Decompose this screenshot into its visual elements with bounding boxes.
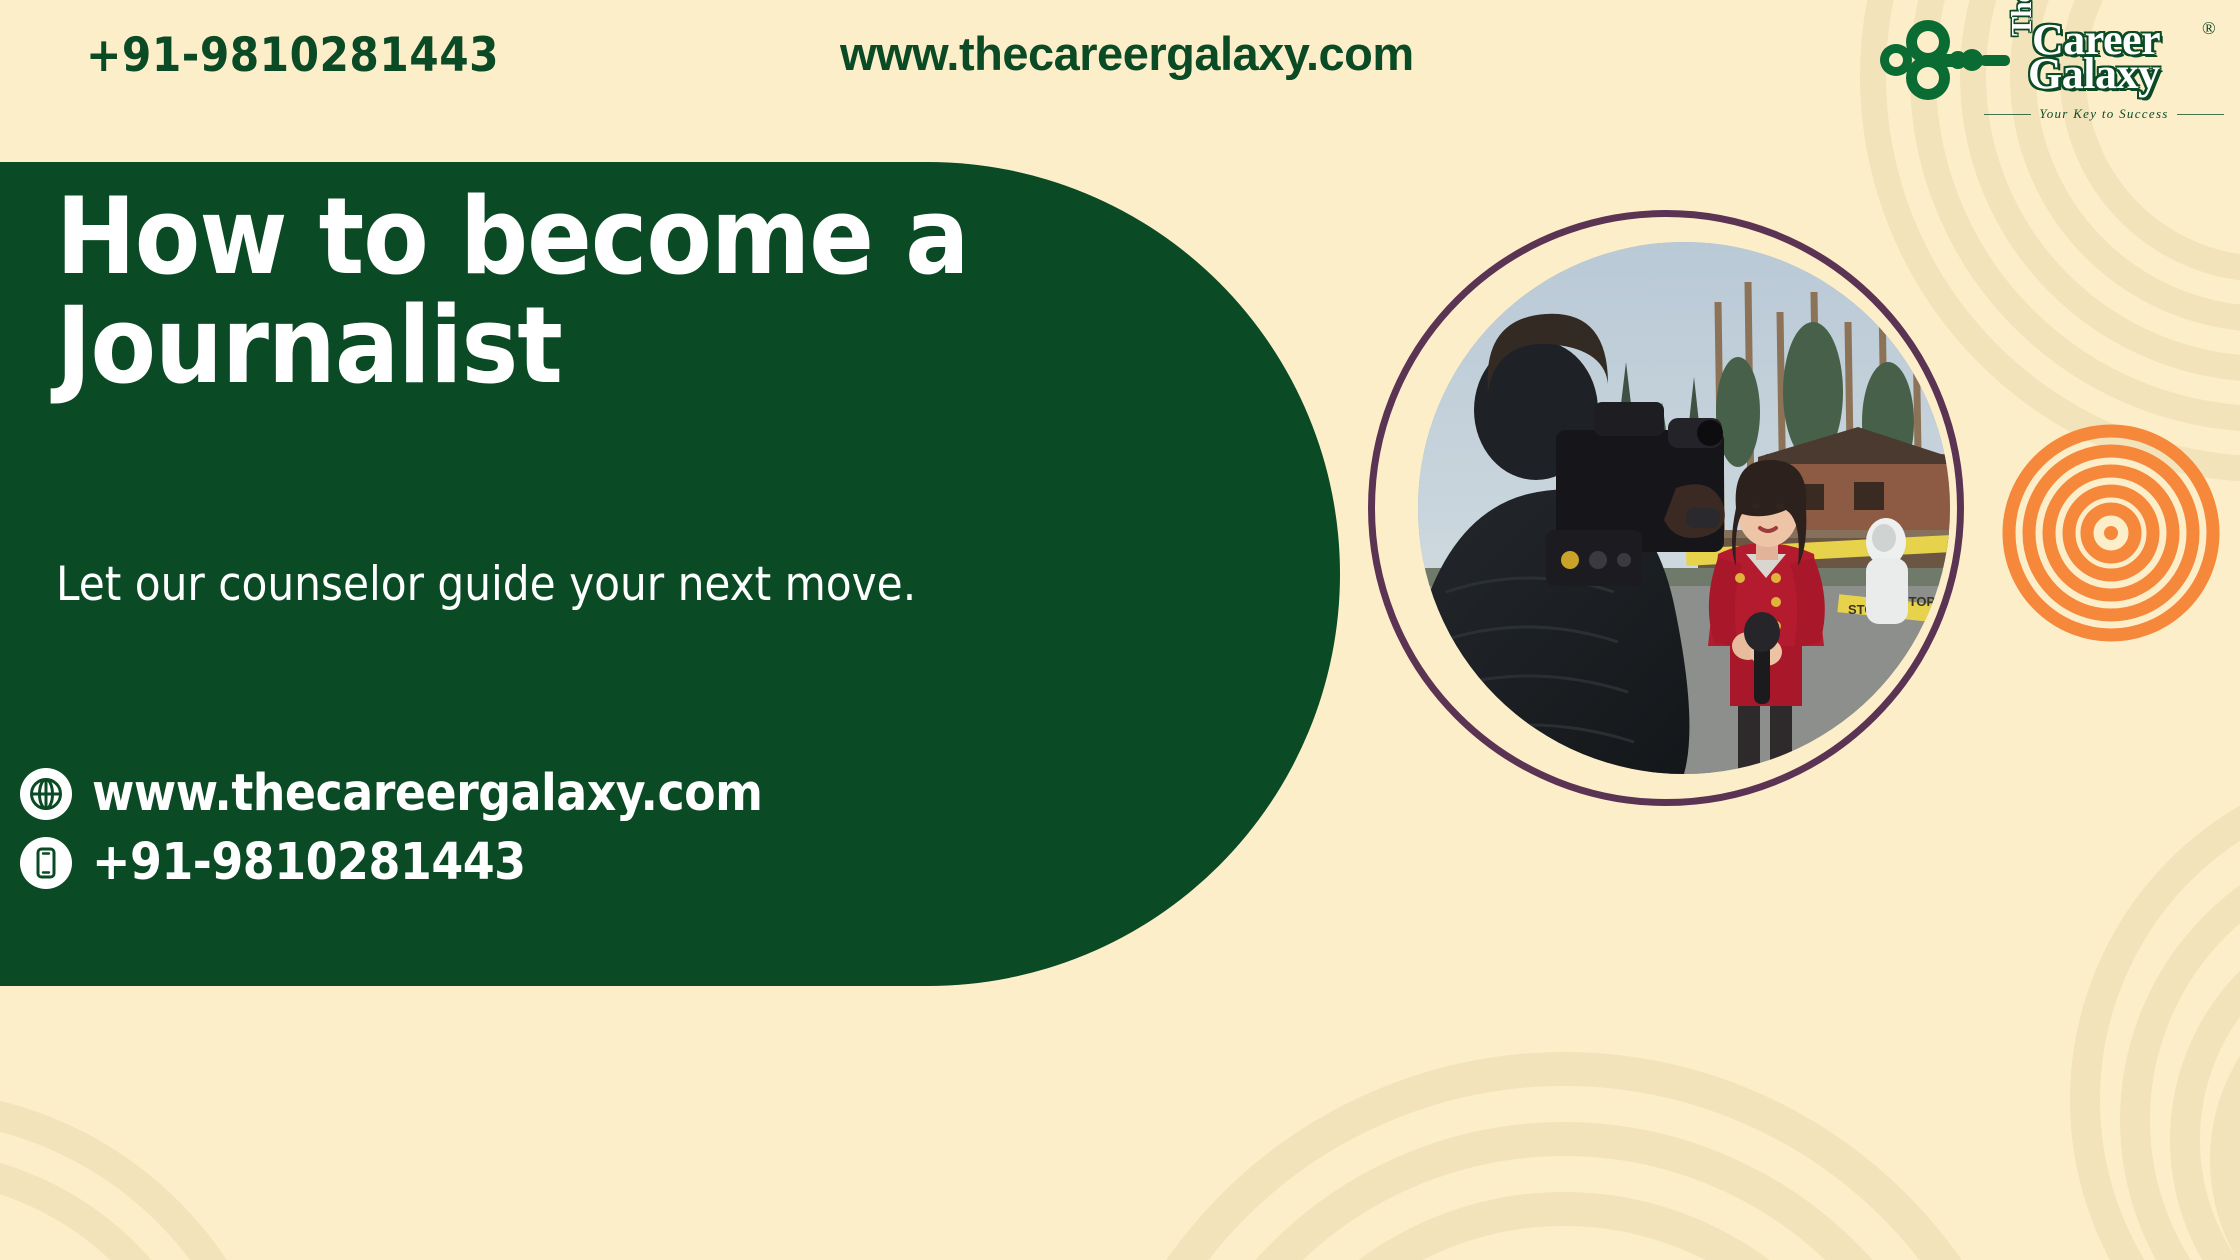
contact-website-label[interactable]: www.thecareergalaxy.com [92,764,762,823]
logo-wordmark: The Career Galaxy ® [2006,16,2226,100]
brand-logo[interactable]: The Career Galaxy ® Your Key to Success [1880,14,2220,134]
globe-icon [20,768,72,820]
tagline-rule-left [1984,114,2031,115]
registered-mark-icon: ® [2202,18,2216,39]
photo-decorative-ring [1368,210,1964,806]
logo-tagline: Your Key to Success [1984,106,2224,122]
contact-row-website[interactable]: www.thecareergalaxy.com [20,764,1020,823]
concentric-target-icon [2002,424,2220,642]
top-phone-number[interactable]: +91-9810281443 [86,28,499,83]
contact-row-phone[interactable]: +91-9810281443 [20,833,1020,892]
headline-line-1: How to become a [56,182,1116,291]
headline-line-2: Journalist [56,291,1116,400]
top-website-url[interactable]: www.thecareergalaxy.com [840,26,1414,81]
mobile-phone-icon [20,837,72,889]
logo-galaxy-text: Galaxy [2028,48,2159,99]
hero-content: How to become a Journalist Let our couns… [0,162,1100,986]
hero-subheadline: Let our counselor guide your next move. [56,554,956,617]
promo-banner: +91-9810281443 www.thecareergalaxy.com [0,0,2240,1260]
page-title: How to become a Journalist [56,182,1116,400]
hero-contact-list: www.thecareergalaxy.com +91-9810281443 [20,764,1020,902]
key-icon [1880,18,2010,107]
logo-tagline-text: Your Key to Success [2039,106,2168,122]
contact-phone-label[interactable]: +91-9810281443 [92,833,526,892]
tagline-rule-right [2177,114,2224,115]
